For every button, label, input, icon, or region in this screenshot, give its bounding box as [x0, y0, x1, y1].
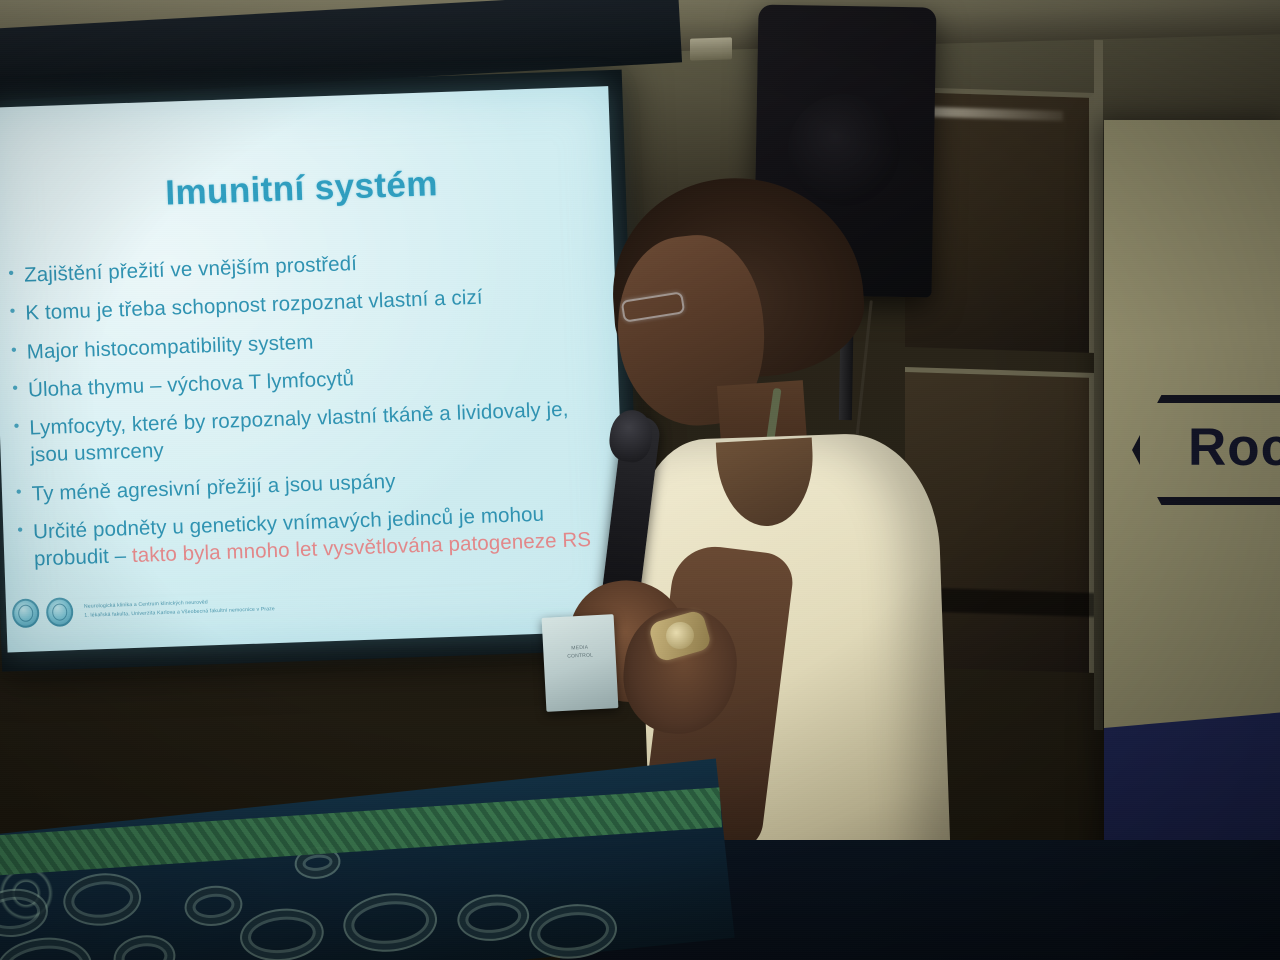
- banner-brand-text: Roc: [1188, 417, 1280, 478]
- bullet-dot-icon: •: [12, 377, 19, 400]
- carpet-ring: [0, 933, 95, 960]
- bullet-item-highlighted: • Určité podněty u geneticky vnímavých j…: [17, 498, 613, 573]
- panel-gleam: [913, 106, 1063, 121]
- carpet-ring: [527, 900, 620, 960]
- control-device-label: MEDIA CONTROL: [552, 643, 609, 662]
- bullet-dot-icon: •: [13, 415, 20, 438]
- wall-divider: [1094, 40, 1103, 730]
- slide-footer: Neurologická klinika a Centrum klinickýc…: [12, 590, 275, 628]
- carpet-ring: [0, 885, 50, 940]
- carpet-ring: [61, 870, 144, 930]
- photo-scene: Imunitní systém • Zajištění přežití ve v…: [0, 0, 1280, 960]
- presentation-slide: Imunitní systém • Zajištění přežití ve v…: [0, 86, 627, 652]
- roche-banner: Roc Roche s.r.o. Sokolovská 685/136f, 18…: [1104, 120, 1280, 960]
- bullet-dot-icon: •: [11, 338, 18, 361]
- carpet-ring: [340, 889, 440, 957]
- slide-bullet-list: • Zajištění přežití ve vnějším prostředí…: [8, 241, 613, 584]
- bullet-dot-icon: •: [17, 519, 24, 542]
- slide-title: Imunitní systém: [0, 158, 612, 220]
- bullet-dot-icon: •: [16, 480, 23, 503]
- carpet-ring: [455, 891, 531, 944]
- carpet-ring: [111, 932, 177, 960]
- bullet-dot-icon: •: [9, 300, 16, 323]
- ceiling-vent-icon: [690, 37, 732, 60]
- bullet-dot-icon: •: [8, 262, 15, 285]
- hospital-seal-icon: [46, 597, 74, 627]
- university-seal-icon: [12, 598, 40, 628]
- slide-footer-text: Neurologická klinika a Centrum klinickýc…: [84, 596, 275, 619]
- bullet-text: Určité podněty u geneticky vnímavých jed…: [33, 498, 613, 573]
- bullet-text: Lymfocyty, které by rozpoznaly vlastní t…: [29, 394, 609, 469]
- control-device-box: [542, 614, 619, 712]
- bullet-item: • Lymfocyty, které by rozpoznaly vlastní…: [13, 394, 609, 469]
- carpet-ring: [183, 883, 245, 929]
- carpet-ring: [237, 905, 326, 960]
